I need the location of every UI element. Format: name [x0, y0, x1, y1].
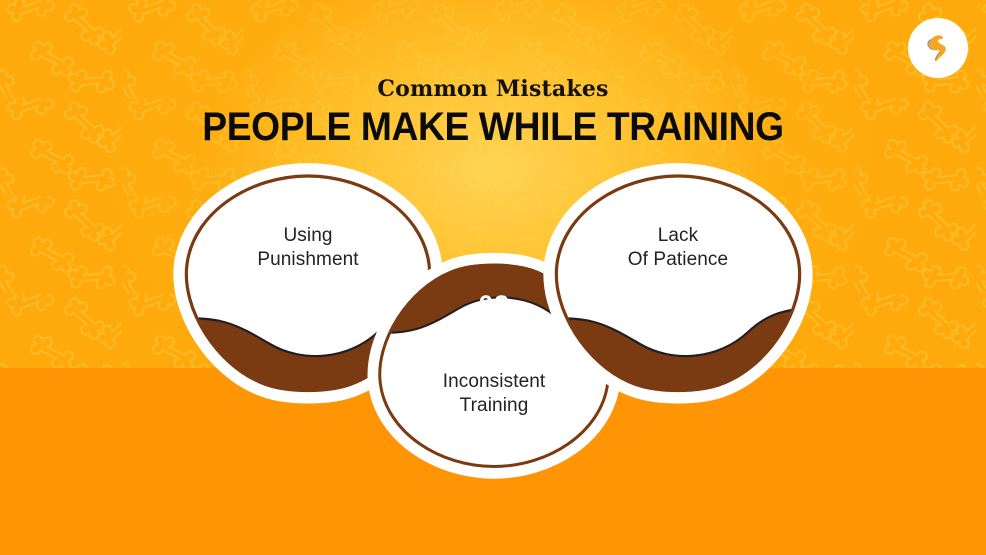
card-label-line1: Lack	[548, 224, 808, 248]
brand-logo[interactable]	[908, 18, 968, 78]
infographic-stage: Common Mistakes People Make While Traini…	[0, 0, 986, 555]
card-label: Lack Of Patience	[548, 224, 808, 273]
eyebrow-title: Common Mistakes	[0, 78, 986, 101]
page-title: People Make While Training	[35, 107, 952, 147]
card-label-line2: Of Patience	[548, 248, 808, 272]
title-block: Common Mistakes People Make While Traini…	[0, 78, 986, 147]
mistake-card-3[interactable]: Lack Of Patience 03	[548, 168, 808, 398]
dog-logo-icon	[919, 29, 957, 67]
card-number: 03	[548, 320, 808, 351]
card-label-line1: Using	[178, 224, 438, 248]
